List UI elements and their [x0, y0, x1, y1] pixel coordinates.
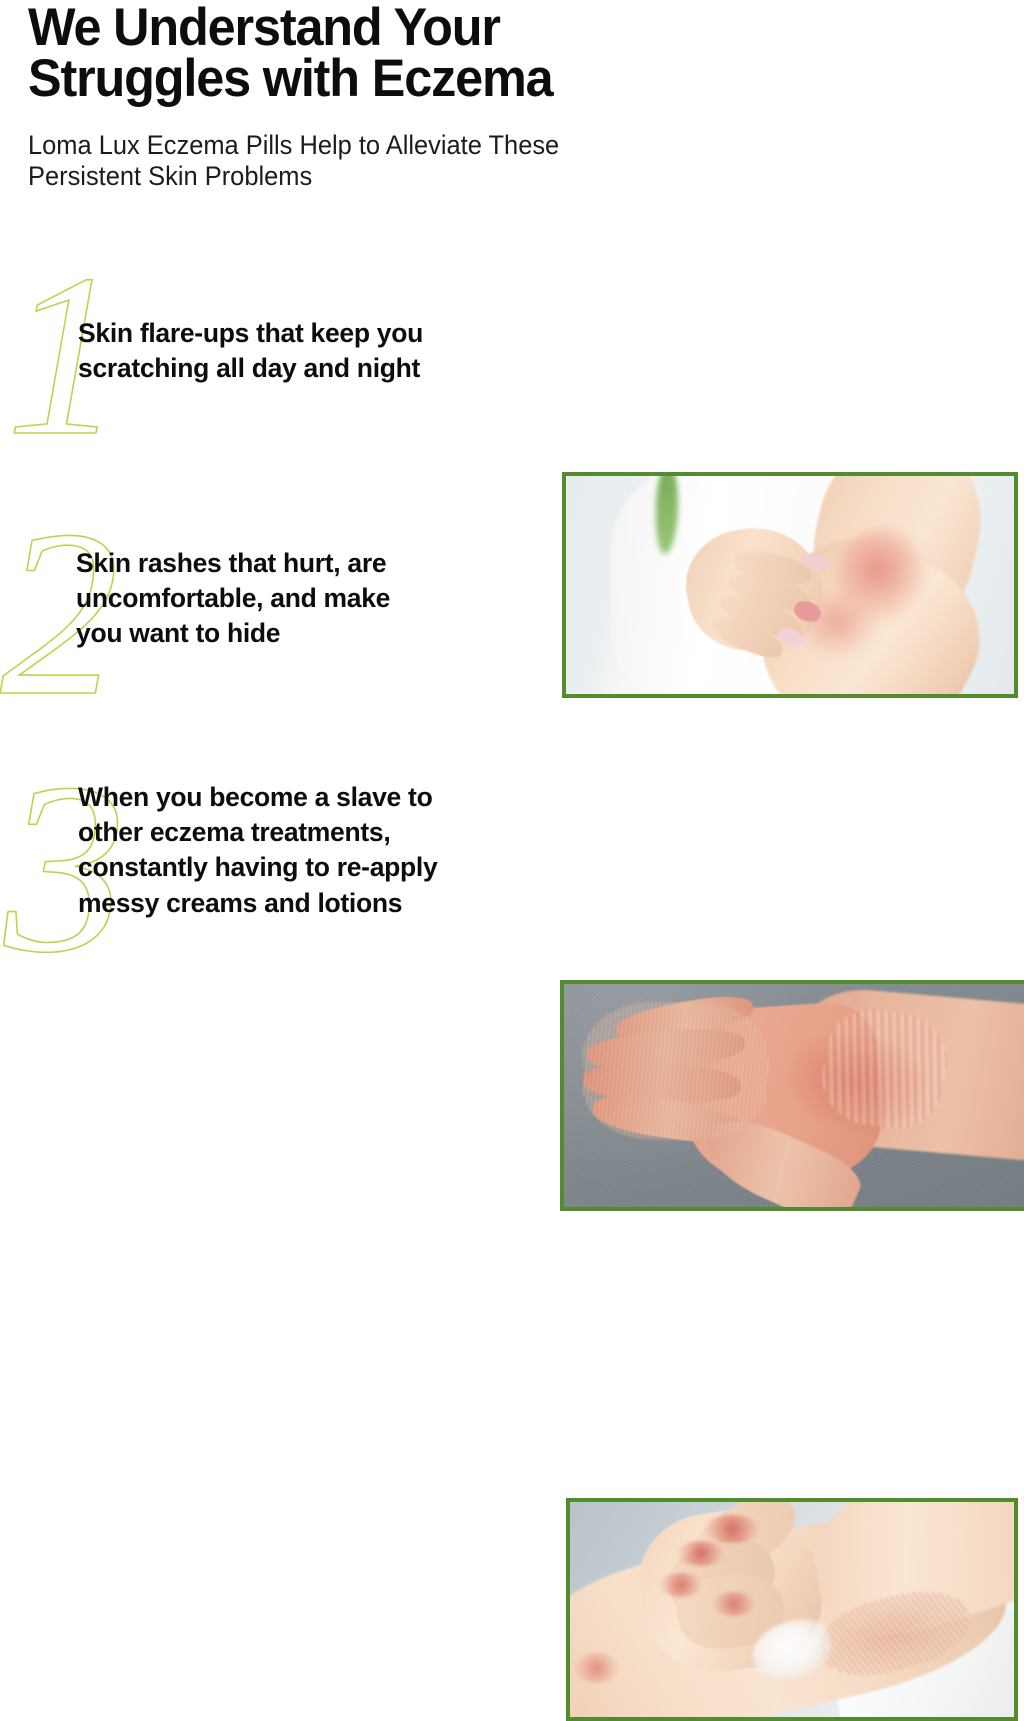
item-2-photo-frame	[560, 980, 1024, 1211]
item-3-label: When you become a slave to other eczema …	[78, 780, 548, 921]
item-2-label: Skin rashes that hurt, are uncomfortable…	[76, 546, 546, 652]
applying-cream-to-elbow-photo	[570, 1502, 1014, 1717]
item-1-text-block: 1 Skin flare-ups that keep you scratchin…	[0, 236, 548, 464]
item-3-photo-frame	[566, 1498, 1018, 1721]
header-block: We Understand Your Struggles with Eczema…	[28, 0, 788, 191]
struggle-item-2: 2 Skin rashes that hurt, are uncomfortab…	[0, 489, 1024, 723]
photo-3-eczema-sore	[574, 1653, 618, 1683]
photo-2-scaly-finger-skin	[583, 1002, 769, 1140]
struggle-item-3: 3 When you become a slave to other eczem…	[0, 748, 1024, 977]
page-subtitle: Loma Lux Eczema Pills Help to Alleviate …	[28, 105, 758, 191]
item-1-label: Skin flare-ups that keep you scratching …	[78, 316, 548, 386]
photo-3-eczema-sore	[703, 1515, 761, 1543]
page-title: We Understand Your Struggles with Eczema	[28, 0, 750, 105]
photo-3-eczema-sore	[659, 1573, 703, 1597]
eczema-hand-photo	[564, 984, 1024, 1207]
photo-3-eczema-sore	[712, 1592, 756, 1616]
struggle-item-1: 1 Skin flare-ups that keep you scratchin…	[0, 236, 1024, 464]
item-3-text-block: 3 When you become a slave to other eczem…	[0, 748, 548, 977]
item-2-text-block: 2 Skin rashes that hurt, are uncomfortab…	[0, 489, 548, 723]
